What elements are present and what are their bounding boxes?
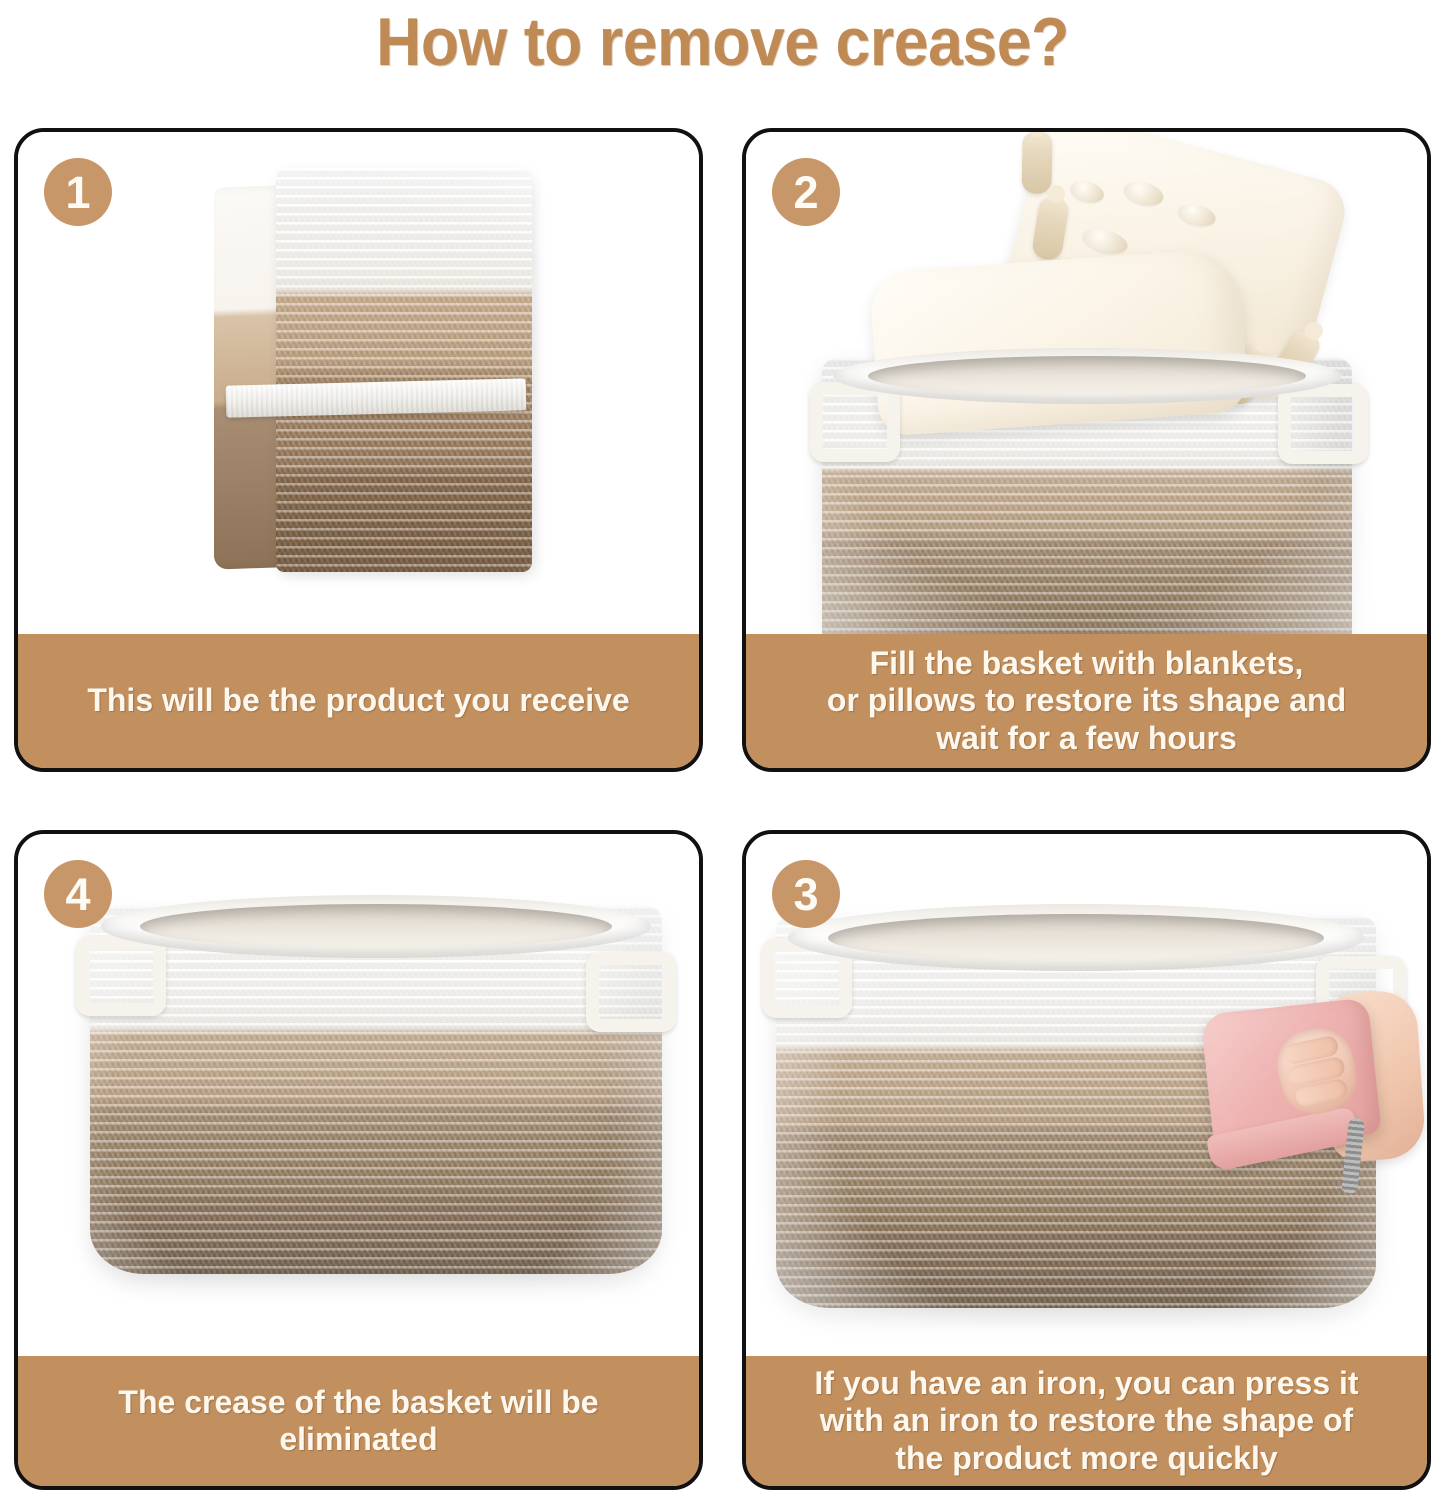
basket-handle-right	[586, 952, 676, 1032]
step-caption-4: The crease of the basket will be elimina…	[18, 1356, 699, 1486]
plain-pillow	[869, 247, 1250, 436]
garment-steamer-icon	[1207, 990, 1419, 1186]
basket-handle-left	[810, 382, 900, 462]
pillow-tuft	[1122, 178, 1166, 210]
basket-interior	[828, 914, 1323, 962]
step-caption-3: If you have an iron, you can press it wi…	[746, 1356, 1427, 1486]
step-image-2	[746, 132, 1427, 634]
basket-rim	[833, 348, 1342, 404]
step-caption-2: Fill the basket with blankets, or pillow…	[746, 634, 1427, 768]
page-title: How to remove crease?	[58, 0, 1387, 76]
step-number-badge-4: 4	[44, 860, 112, 928]
step-number-badge-2: 2	[772, 158, 840, 226]
steamer-grip	[1271, 1022, 1363, 1120]
step-panel-1: 1 This will be the product you receive	[14, 128, 703, 772]
rope-weave-texture	[90, 906, 662, 1274]
step-number-badge-1: 1	[44, 158, 112, 226]
basket-interior	[868, 356, 1306, 396]
rope-basket	[90, 906, 662, 1274]
step-image-4	[18, 834, 699, 1356]
step-number-badge-3: 3	[772, 860, 840, 928]
pillow-tassel	[1021, 132, 1052, 194]
basket-rim	[101, 895, 650, 958]
folded-basket-illustration	[214, 168, 532, 578]
pillow-tuft	[1080, 225, 1130, 258]
step-panel-4: 4 The crease of the basket will be elimi…	[14, 830, 703, 1490]
step-panel-3: 3	[742, 830, 1431, 1490]
basket-handle-left	[76, 936, 166, 1016]
basket-body	[90, 906, 662, 1274]
step-caption-1: This will be the product you receive	[18, 634, 699, 768]
step-image-1	[18, 132, 699, 634]
pillow-tuft	[1176, 200, 1218, 229]
pillow-tassel	[1031, 196, 1070, 262]
steps-grid: 1 This will be the product you receive 2	[14, 128, 1431, 1490]
pillow-tuft	[1068, 178, 1106, 206]
basket-handle-right	[1278, 384, 1368, 464]
basket-rim	[788, 904, 1364, 971]
step-image-3	[746, 834, 1427, 1356]
basket-interior	[140, 904, 612, 949]
step-panel-2: 2	[742, 128, 1431, 772]
rope-weave-texture	[276, 168, 532, 572]
folded-basket-front-fold	[276, 168, 532, 572]
steamer-soleplate	[1206, 1106, 1360, 1172]
